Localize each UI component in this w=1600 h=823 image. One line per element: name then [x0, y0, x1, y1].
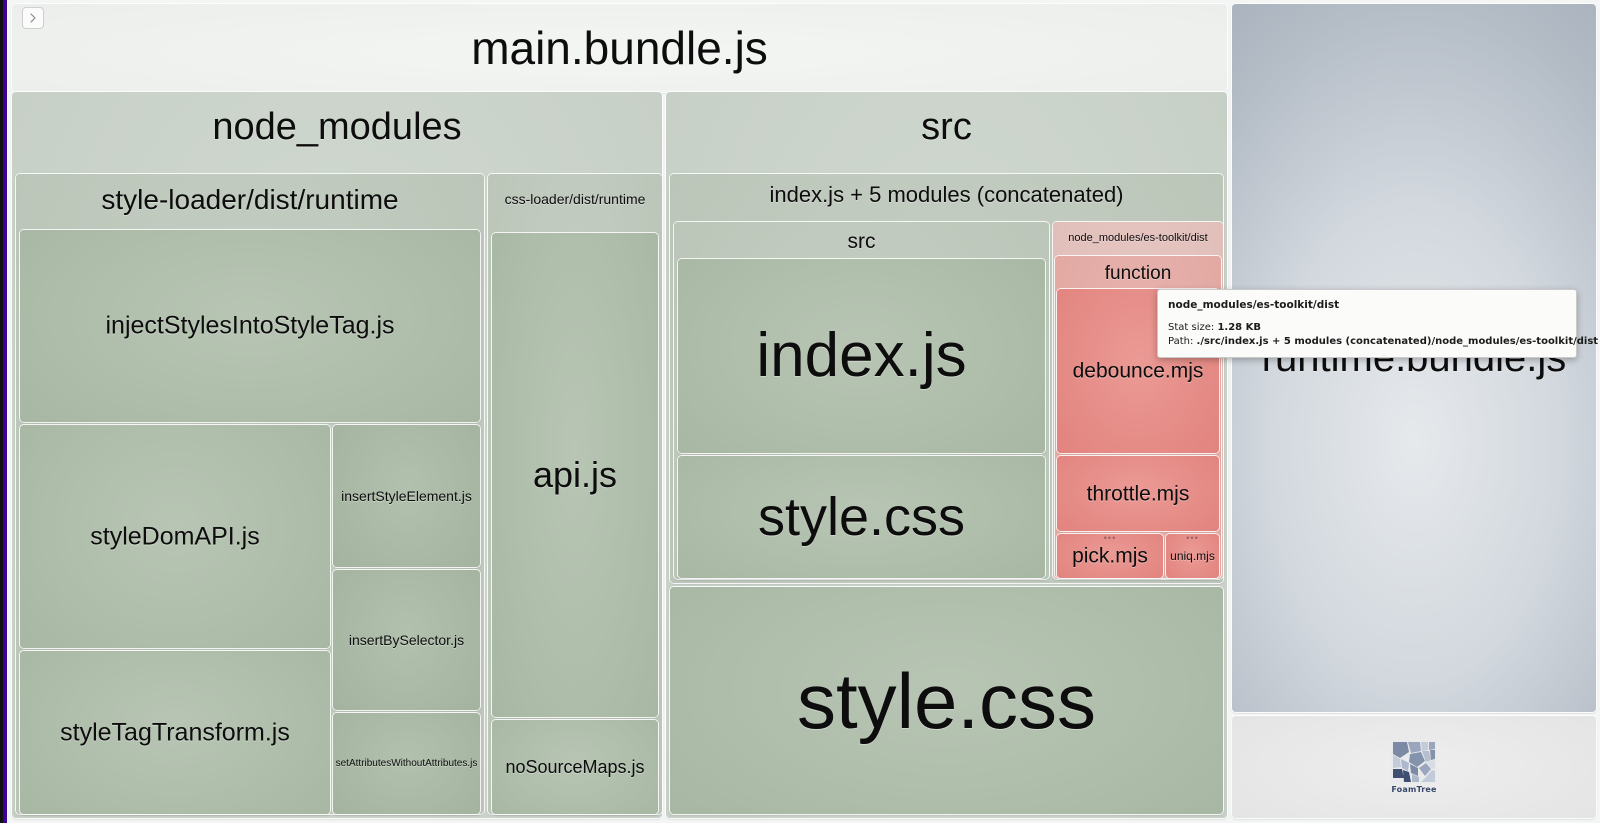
cell-label-node-modules: node_modules [12, 92, 662, 146]
cell-label-pick-mjs: pick.mjs [1057, 546, 1163, 567]
treemap-cell-main-bundle[interactable]: main.bundle.js [12, 4, 1227, 92]
tooltip-path-value: ./src/index.js + 5 modules (concatenated… [1197, 336, 1599, 347]
cell-label-src-inner: src [674, 222, 1049, 252]
cell-label-insert-style-element: insertBySelector.js [333, 633, 480, 647]
cell-label-es-toolkit: node_modules/es-toolkit/dist [1053, 222, 1223, 244]
ellipsis-marker-pick: ••• [1057, 535, 1163, 542]
cell-label-function: function [1055, 256, 1221, 283]
foamtree-logo-text: FoamTree [1387, 785, 1441, 794]
cell-label-style-dom-api: styleDomAPI.js [20, 524, 330, 549]
tooltip-stat-size-value: 1.28 KB [1217, 322, 1261, 333]
left-accent-strip [0, 0, 8, 823]
treemap-cell-index-js[interactable]: index.js [678, 259, 1045, 453]
treemap-cell-pick-mjs[interactable]: ••• pick.mjs [1057, 534, 1163, 578]
module-tooltip: node_modules/es-toolkit/dist Stat size: … [1157, 289, 1577, 358]
treemap-cell-api-js[interactable]: api.js [492, 233, 658, 717]
cell-label-style-css-big: style.css [670, 662, 1223, 740]
cell-label-index-concatenated: index.js + 5 modules (concatenated) [670, 174, 1223, 206]
treemap-cell-style-dom-api[interactable]: styleDomAPI.js [20, 425, 330, 648]
tooltip-stat-size-row: Stat size: 1.28 KB [1168, 321, 1566, 335]
treemap-cell-style-css-inner[interactable]: style.css [678, 456, 1045, 578]
foamtree-logo-wrap: FoamTree [1387, 740, 1441, 794]
treemap-cell-throttle-mjs[interactable]: throttle.mjs [1057, 456, 1219, 531]
cell-label-main-bundle: main.bundle.js [12, 25, 1227, 71]
cell-label-api-js: api.js [492, 457, 658, 493]
treemap-cell-insert-style-element[interactable]: insertBySelector.js [333, 570, 480, 710]
cell-label-set-attributes: setAttributesWithoutAttributes.js [333, 759, 480, 769]
tooltip-stat-size-label: Stat size: [1168, 322, 1214, 333]
expand-sidebar-button[interactable] [22, 7, 44, 29]
cell-label-debounce-mjs: debounce.mjs [1057, 361, 1219, 382]
cell-label-style-css-inner: style.css [678, 490, 1045, 544]
treemap-cell-inject-styles[interactable]: injectStylesIntoStyleTag.js [20, 230, 480, 422]
foamtree-attribution-panel[interactable]: FoamTree [1232, 716, 1596, 818]
cell-label-style-tag-transform: insertStyleElement.js [333, 489, 480, 503]
treemap-cell-insert-by-selector[interactable]: styleTagTransform.js [20, 651, 330, 814]
treemap-cell-style-css-big[interactable]: style.css [670, 587, 1223, 814]
tooltip-path-row: Path: ./src/index.js + 5 modules (concat… [1168, 335, 1566, 349]
cell-label-insert-by-selector: styleTagTransform.js [20, 720, 330, 745]
tooltip-title: node_modules/es-toolkit/dist [1168, 298, 1566, 312]
cell-label-no-source-maps: noSourceMaps.js [492, 758, 658, 776]
ellipsis-marker-uniq: ••• [1166, 535, 1219, 542]
treemap-app: main.bundle.js node_modules style-loader… [0, 0, 1600, 823]
cell-label-css-loader: css-loader/dist/runtime [488, 174, 662, 206]
cell-label-src: src [666, 92, 1227, 146]
treemap-cell-uniq-mjs[interactable]: ••• uniq.mjs [1166, 534, 1219, 578]
cell-label-inject-styles: injectStylesIntoStyleTag.js [20, 314, 480, 339]
chevron-right-icon [28, 12, 38, 24]
treemap-canvas: main.bundle.js node_modules style-loader… [8, 0, 1600, 823]
treemap-cell-no-source-maps[interactable]: noSourceMaps.js [492, 720, 658, 814]
tooltip-path-label: Path: [1168, 336, 1193, 347]
foamtree-logo-icon [1391, 740, 1437, 784]
treemap-cell-set-attributes[interactable]: setAttributesWithoutAttributes.js [333, 713, 480, 814]
cell-label-uniq-mjs: uniq.mjs [1166, 550, 1219, 562]
treemap-cell-style-tag-transform[interactable]: insertStyleElement.js [333, 425, 480, 567]
cell-label-index-js: index.js [678, 325, 1045, 387]
cell-label-throttle-mjs: throttle.mjs [1057, 483, 1219, 504]
cell-label-style-loader: style-loader/dist/runtime [16, 174, 484, 214]
